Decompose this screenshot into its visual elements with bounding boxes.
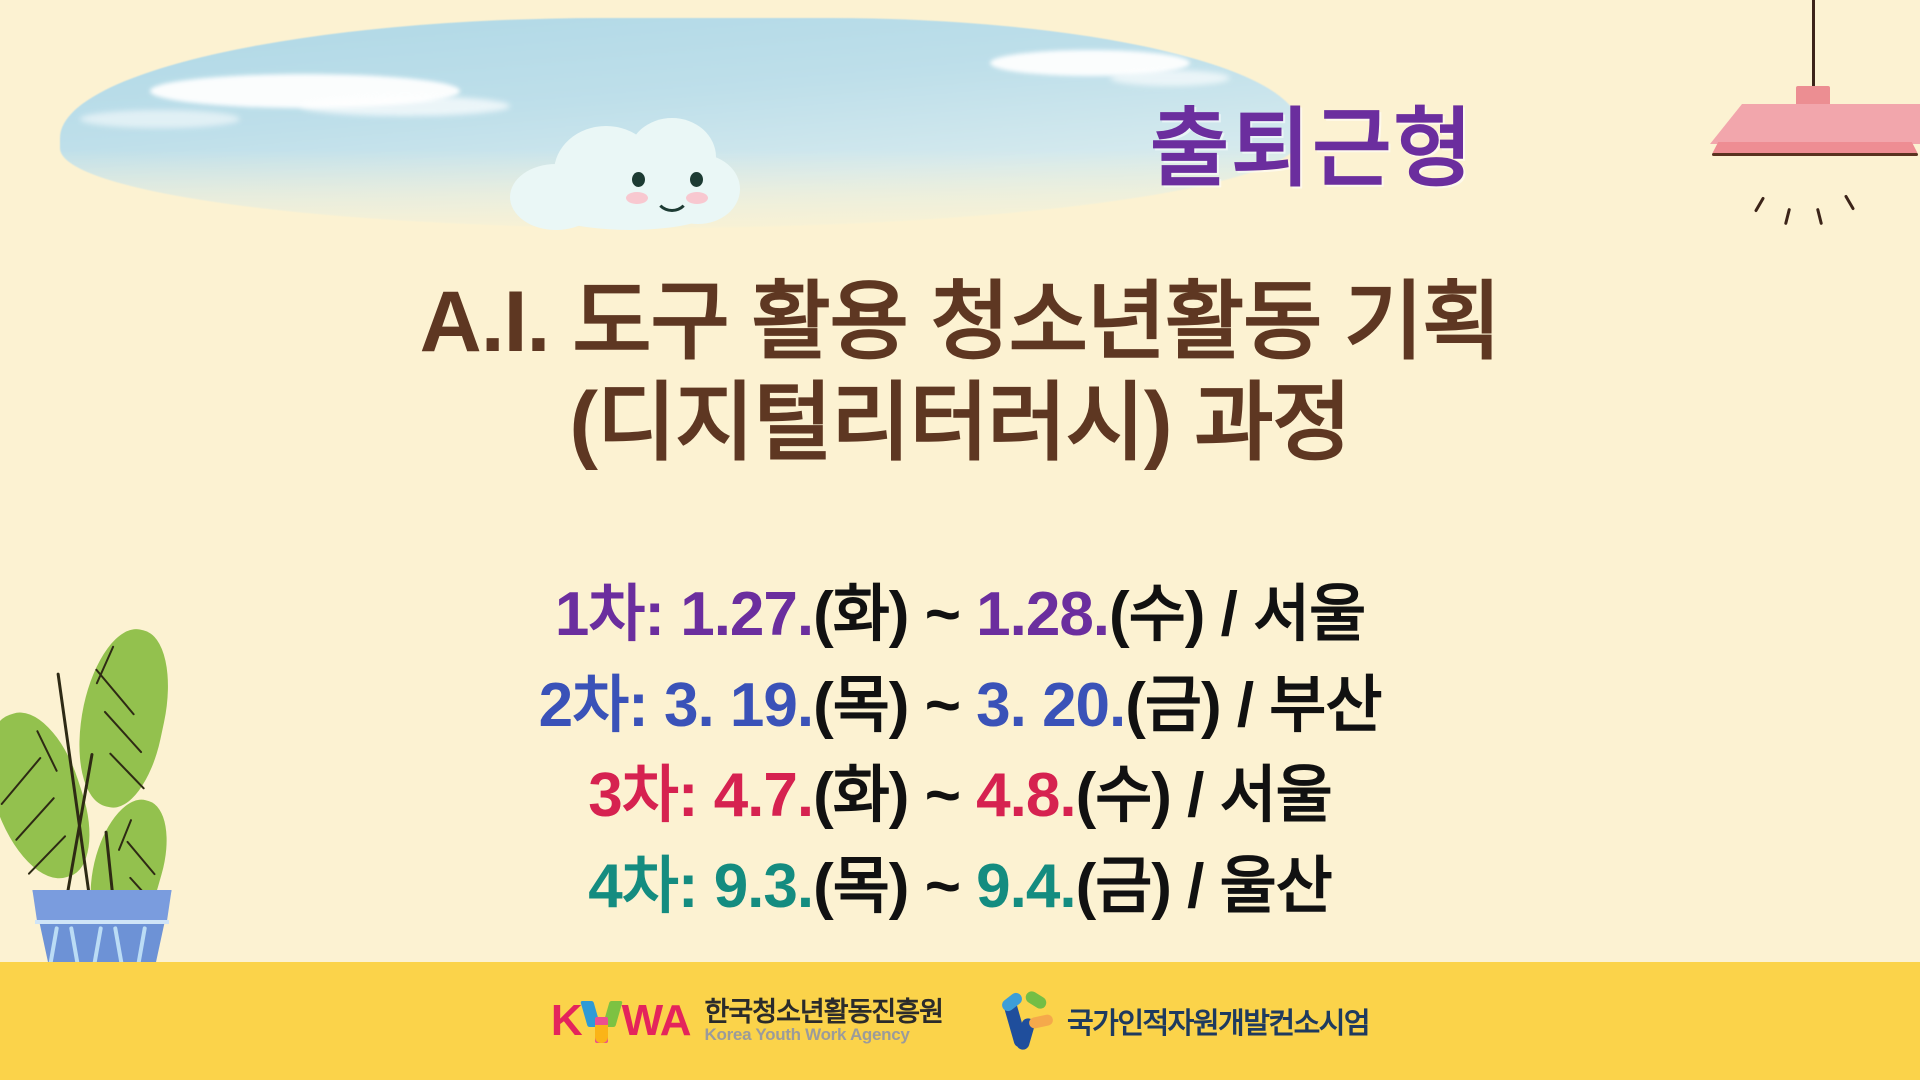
schedule-end-date: 9.4.: [976, 852, 1075, 921]
schedule-start-day: (목): [813, 671, 908, 740]
schedule-location: 서울: [1220, 761, 1332, 830]
title-line-2: (디지털리터러시) 과정: [0, 373, 1920, 474]
schedule-session-label: 4차:: [588, 852, 697, 921]
schedule-slash: /: [1171, 761, 1220, 830]
schedule-start-date: 4.7.: [714, 761, 813, 830]
schedule-session-label: 1차:: [555, 580, 664, 649]
consortium-logo: 국가인적자원개발컨소시엄: [995, 992, 1369, 1050]
schedule-end-date: 1.28.: [976, 580, 1109, 649]
lamp-icon: [1700, 0, 1920, 226]
schedule-slash: /: [1204, 580, 1253, 649]
consortium-mark-icon: [995, 992, 1053, 1050]
schedule-end-day: (수): [1076, 761, 1171, 830]
schedule-row: 2차: 3. 19.(목) ~ 3. 20.(금) / 부산: [0, 661, 1920, 752]
kywa-logo: K WA 한국청소년활동진흥원 Korea Youth Work Agency: [551, 996, 943, 1046]
schedule-row: 3차: 4.7.(화) ~ 4.8.(수) / 서울: [0, 751, 1920, 842]
schedule-tilde: ~: [908, 852, 976, 921]
schedule-tilde: ~: [908, 671, 976, 740]
schedule-start-date: 3. 19.: [664, 671, 813, 740]
schedule-location: 부산: [1269, 671, 1381, 740]
cloud-eye-icon: [632, 172, 645, 187]
consortium-name-kr: 국가인적자원개발컨소시엄: [1067, 1000, 1369, 1042]
kywa-mark-suffix: WA: [622, 996, 691, 1046]
kywa-mark-y-icon: [582, 999, 622, 1043]
spacer: [697, 761, 713, 830]
schedule-end-day: (수): [1109, 580, 1204, 649]
schedule-start-day: (화): [813, 761, 908, 830]
schedule-list: 1차: 1.27.(화) ~ 1.28.(수) / 서울 2차: 3. 19.(…: [0, 570, 1920, 932]
kywa-name-kr: 한국청소년활동진흥원: [705, 999, 943, 1027]
schedule-end-day: (금): [1125, 671, 1220, 740]
schedule-session-label: 2차:: [539, 671, 648, 740]
schedule-start-date: 1.27.: [680, 580, 813, 649]
spacer: [664, 580, 680, 649]
schedule-end-day: (금): [1076, 852, 1171, 921]
cloud-cheek-icon: [626, 192, 648, 204]
kywa-mark-prefix: K: [551, 996, 582, 1046]
schedule-row: 1차: 1.27.(화) ~ 1.28.(수) / 서울: [0, 570, 1920, 661]
schedule-end-date: 3. 20.: [976, 671, 1125, 740]
poster-canvas: 출퇴근형 A.I. 도구 활용 청소년활동 기획 (디지털리터러시) 과정 1차…: [0, 0, 1920, 1080]
spacer: [648, 671, 664, 740]
schedule-tilde: ~: [908, 580, 976, 649]
badge-attendance-type: 출퇴근형: [1150, 78, 1474, 203]
spacer: [697, 852, 713, 921]
schedule-location: 서울: [1253, 580, 1365, 649]
kywa-name-en: Korea Youth Work Agency: [705, 1026, 943, 1043]
cloud-wisp: [80, 110, 240, 128]
kywa-wordmark-icon: K WA: [551, 996, 691, 1046]
schedule-end-date: 4.8.: [976, 761, 1075, 830]
schedule-start-day: (목): [813, 852, 908, 921]
cloud-icon: [510, 118, 740, 230]
page-title: A.I. 도구 활용 청소년활동 기획 (디지털리터러시) 과정: [0, 272, 1920, 475]
schedule-slash: /: [1221, 671, 1270, 740]
footer-bar: K WA 한국청소년활동진흥원 Korea Youth Work Agency …: [0, 962, 1920, 1080]
schedule-start-date: 9.3.: [714, 852, 813, 921]
schedule-slash: /: [1171, 852, 1220, 921]
schedule-session-label: 3차:: [588, 761, 697, 830]
schedule-row: 4차: 9.3.(목) ~ 9.4.(금) / 울산: [0, 842, 1920, 933]
cloud-wisp: [300, 96, 510, 116]
schedule-tilde: ~: [908, 761, 976, 830]
cloud-eye-icon: [690, 172, 703, 187]
schedule-start-day: (화): [813, 580, 908, 649]
title-line-1: A.I. 도구 활용 청소년활동 기획: [0, 272, 1920, 373]
schedule-location: 울산: [1220, 852, 1332, 921]
